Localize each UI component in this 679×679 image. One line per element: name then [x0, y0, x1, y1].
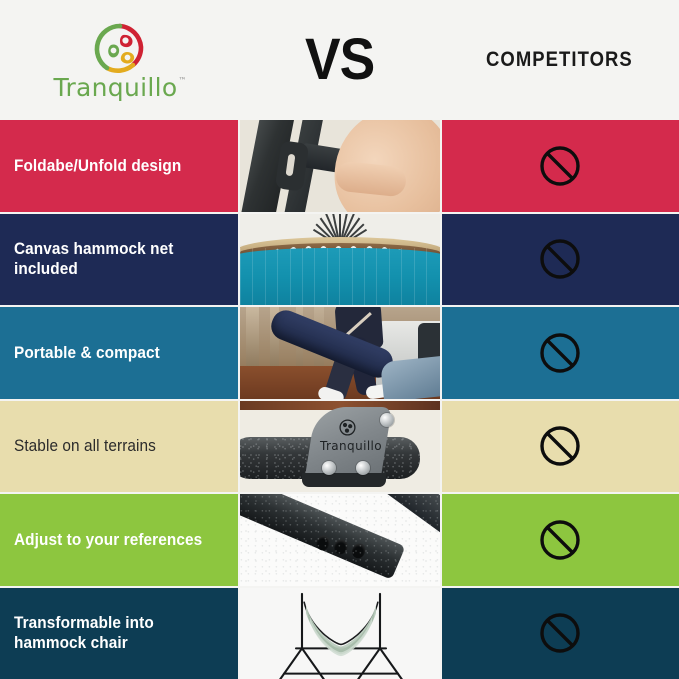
- feature-label: Stable on all terrains: [14, 436, 156, 456]
- competitor-cell: [440, 214, 679, 306]
- prohibition-icon: [538, 331, 582, 375]
- competitors-header-cell: COMPETITORS: [440, 48, 679, 72]
- competitors-label: COMPETITORS: [486, 48, 633, 72]
- prohibition-icon: [538, 237, 582, 281]
- product-photo: Tranquillo: [240, 401, 440, 493]
- feature-label: Transformable into hammock chair: [14, 613, 211, 653]
- brand-wordmark: Tranquillo ™: [54, 75, 187, 100]
- prohibition-icon: [538, 611, 582, 655]
- table-row: Transformable into hammock chair: [0, 588, 679, 679]
- feature-label: Canvas hammock net included: [14, 239, 211, 279]
- table-row: Adjust to your references: [0, 494, 679, 588]
- table-row: Foldabe/Unfold design: [0, 120, 679, 214]
- competitor-cell: [440, 307, 679, 399]
- feature-label: Foldabe/Unfold design: [14, 156, 181, 176]
- competitor-cell: [440, 120, 679, 212]
- prohibition-icon: [538, 424, 582, 468]
- prohibition-icon: [538, 144, 582, 188]
- table-row: Canvas hammock net included: [0, 214, 679, 308]
- product-photo: [240, 494, 440, 586]
- prohibition-icon: [538, 518, 582, 562]
- versus-label: VS: [305, 31, 374, 89]
- table-row: Portable & compact: [0, 307, 679, 401]
- comparison-rows: Foldabe/Unfold design: [0, 120, 679, 679]
- table-row: Stable on all terrains: [0, 401, 679, 495]
- trademark-symbol: ™: [178, 76, 186, 85]
- feature-cell: Transformable into hammock chair: [0, 588, 240, 679]
- competitor-cell: [440, 588, 679, 679]
- comparison-chart: Tranquillo ™ VS COMPETITORS Foldabe/Unfo…: [0, 0, 679, 679]
- feature-cell: Foldabe/Unfold design: [0, 120, 240, 212]
- brand-name: Tranquillo: [54, 75, 178, 100]
- competitor-cell: [440, 401, 679, 493]
- chart-header: Tranquillo ™ VS COMPETITORS: [0, 0, 679, 120]
- versus-header-cell: VS: [240, 31, 440, 89]
- brand-header-cell: Tranquillo ™: [0, 21, 240, 100]
- feature-cell: Adjust to your references: [0, 494, 240, 586]
- bracket-brand-text: Tranquillo: [320, 439, 382, 453]
- tranquillo-bracket-logo-icon: [339, 419, 356, 436]
- feature-cell: Portable & compact: [0, 307, 240, 399]
- product-photo: [240, 214, 440, 306]
- feature-label: Portable & compact: [14, 343, 160, 363]
- product-photo: [240, 120, 440, 212]
- tranquillo-circle-logo-icon: [89, 21, 151, 79]
- product-photo: [240, 307, 440, 399]
- competitor-cell: [440, 494, 679, 586]
- feature-cell: Stable on all terrains: [0, 401, 240, 493]
- feature-label: Adjust to your references: [14, 530, 202, 550]
- product-photo: [240, 588, 440, 679]
- feature-cell: Canvas hammock net included: [0, 214, 240, 306]
- brand-logo: Tranquillo ™: [54, 21, 187, 100]
